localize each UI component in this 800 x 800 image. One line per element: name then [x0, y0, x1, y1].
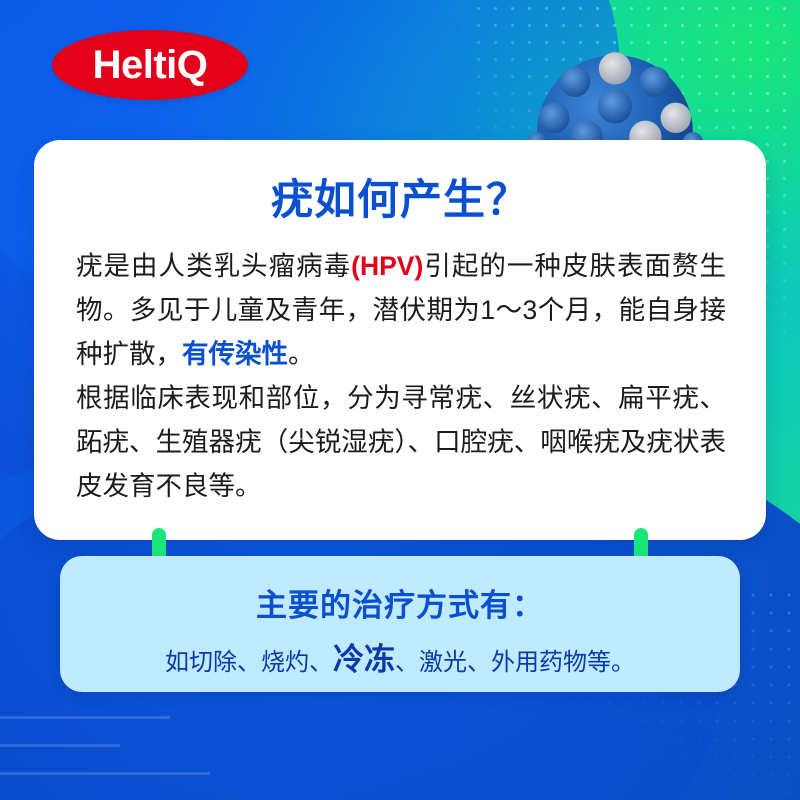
treatment-card: 主要的治疗方式有： 如切除、烧灼、冷冻、激光、外用药物等。	[60, 556, 740, 692]
treatment-sub-post: 、激光、外用药物等。	[395, 649, 635, 676]
paragraph1-pre: 疣是由人类乳头瘤病毒	[76, 251, 351, 281]
poster-canvas: HeltiQ	[0, 0, 800, 800]
info-card: 疣如何产生？ 疣是由人类乳头瘤病毒(HPV)引起的一种皮肤表面赘生物。多见于儿童…	[34, 140, 766, 540]
treatment-card-title: 主要的治疗方式有：	[60, 580, 740, 625]
card-paragraph-2: 根据临床表现和部位，分为寻常疣、丝状疣、扁平疣、跖疣、生殖器疣（尖锐湿疣）、口腔…	[76, 376, 726, 508]
card-paragraph-1: 疣是由人类乳头瘤病毒(HPV)引起的一种皮肤表面赘生物。多见于儿童及青年，潜伏期…	[76, 244, 726, 376]
decorative-line-2	[0, 744, 120, 747]
card-title: 疣如何产生？	[34, 166, 766, 227]
paragraph1-end: 。	[288, 339, 315, 369]
paragraph1-emphasis: 有传染性	[182, 339, 288, 369]
treatment-sub-pre: 如切除、烧灼、	[165, 649, 333, 676]
treatment-sub-emphasis: 冷冻	[333, 642, 395, 677]
decorative-line-1	[0, 716, 170, 719]
brand-logo-text: HeltiQ	[93, 45, 208, 85]
decorative-line-3	[0, 772, 210, 775]
card-body: 疣是由人类乳头瘤病毒(HPV)引起的一种皮肤表面赘生物。多见于儿童及青年，潜伏期…	[76, 244, 726, 508]
treatment-card-subtitle: 如切除、烧灼、冷冻、激光、外用药物等。	[60, 634, 740, 679]
paragraph1-hpv: (HPV)	[351, 251, 423, 281]
brand-logo: HeltiQ	[52, 30, 248, 100]
